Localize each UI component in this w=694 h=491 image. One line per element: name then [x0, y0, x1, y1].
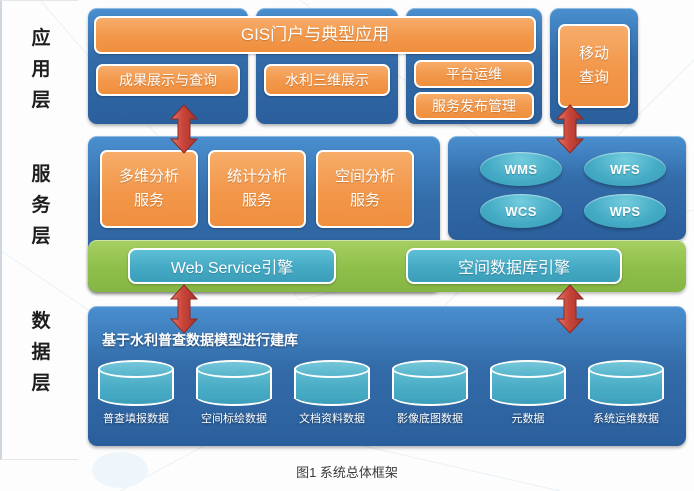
engine-spatial-database[interactable]: 空间数据库引擎	[406, 248, 622, 284]
connector-service-to-data-left	[162, 284, 206, 334]
layer-label-data-char-0: 数	[2, 306, 80, 337]
mobile-query-line-2: 查询	[579, 66, 609, 90]
ogc-service-wps[interactable]: WPS	[584, 194, 666, 228]
layer-label-data-char-1: 据	[2, 337, 80, 368]
layer-label-data: 数 据 层	[2, 306, 80, 399]
layer-label-service: 服 务 层	[2, 159, 80, 252]
app-box-3d-display[interactable]: 水利三维展示	[264, 64, 390, 96]
app-box-platform-ops[interactable]: 平台运维	[414, 60, 534, 88]
app-box-result-display[interactable]: 成果展示与查询	[96, 64, 240, 96]
database-system-ops[interactable]: 系统运维数据	[580, 360, 672, 426]
database-label-1: 空间标绘数据	[188, 410, 280, 426]
diagram-canvas: 应 用 层 服 务 层 数 据 层 GIS门户与典型应用 成果展示与查询 水利三…	[0, 0, 694, 491]
layer-label-data-char-2: 层	[2, 368, 80, 399]
database-cylinder-icon	[294, 360, 370, 406]
database-label-3: 影像底图数据	[384, 410, 476, 426]
database-cylinder-icon	[196, 360, 272, 406]
database-imagery-base[interactable]: 影像底图数据	[384, 360, 476, 426]
layer-label-application-char-0: 应	[2, 23, 80, 54]
database-cylinder-icon	[588, 360, 664, 406]
layer-label-application-char-2: 层	[2, 85, 80, 116]
service-box-statistic-analysis[interactable]: 统计分析 服务	[208, 150, 306, 228]
layer-rail: 应 用 层 服 务 层 数 据 层	[0, 0, 78, 460]
service-box-multidim-analysis[interactable]: 多维分析 服务	[100, 150, 198, 228]
figure-caption: 图1 系统总体框架	[0, 462, 694, 481]
ogc-service-wcs[interactable]: WCS	[480, 194, 562, 228]
statistic-line-1: 统计分析	[227, 165, 287, 189]
multidim-line-1: 多维分析	[119, 165, 179, 189]
layer-label-application-char-1: 用	[2, 54, 80, 85]
app-box-mobile-query[interactable]: 移动 查询	[558, 24, 630, 108]
database-cylinder-icon	[98, 360, 174, 406]
connector-app-to-service-right	[548, 104, 592, 154]
layer-label-application: 应 用 层	[2, 23, 80, 116]
layer-label-service-char-1: 务	[2, 190, 80, 221]
database-metadata[interactable]: 元数据	[482, 360, 574, 426]
ogc-service-wms[interactable]: WMS	[480, 152, 562, 186]
layer-label-service-char-0: 服	[2, 159, 80, 190]
database-cylinder-icon	[490, 360, 566, 406]
database-label-0: 普查填报数据	[90, 410, 182, 426]
database-label-4: 元数据	[482, 410, 574, 426]
app-box-service-publish[interactable]: 服务发布管理	[414, 92, 534, 120]
statistic-line-2: 服务	[227, 189, 287, 213]
multidim-line-2: 服务	[119, 189, 179, 213]
connector-app-to-service-left	[162, 104, 206, 154]
gis-portal-banner[interactable]: GIS门户与典型应用	[94, 16, 536, 54]
engine-web-service[interactable]: Web Service引擎	[128, 248, 336, 284]
database-document[interactable]: 文档资料数据	[286, 360, 378, 426]
database-label-5: 系统运维数据	[580, 410, 672, 426]
layer-label-service-char-2: 层	[2, 221, 80, 252]
database-label-2: 文档资料数据	[286, 410, 378, 426]
mobile-query-line-1: 移动	[579, 42, 609, 66]
database-spatial-mapping[interactable]: 空间标绘数据	[188, 360, 280, 426]
service-box-spatial-analysis[interactable]: 空间分析 服务	[316, 150, 414, 228]
spatial-line-2: 服务	[335, 189, 395, 213]
ogc-service-wfs[interactable]: WFS	[584, 152, 666, 186]
connector-service-to-data-right	[548, 284, 592, 334]
spatial-line-1: 空间分析	[335, 165, 395, 189]
service-layer-group: 多维分析 服务 统计分析 服务 空间分析 服务 WMS WFS WCS	[88, 136, 686, 296]
database-census-report[interactable]: 普查填报数据	[90, 360, 182, 426]
database-cylinder-icon	[392, 360, 468, 406]
